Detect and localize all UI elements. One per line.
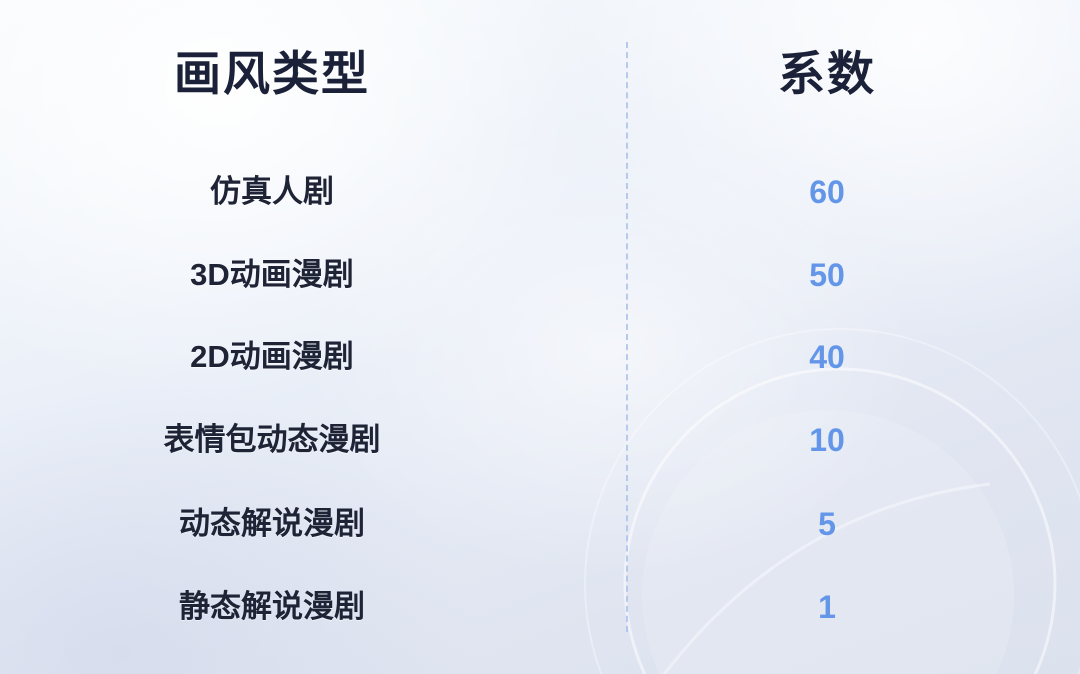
row-value: 60 [627, 168, 1027, 216]
row-value: 5 [627, 500, 1027, 548]
table-row: 静态解说漫剧 1 [0, 583, 1080, 631]
table-row: 表情包动态漫剧 10 [0, 416, 1080, 464]
row-value: 40 [627, 333, 1027, 381]
table-row: 2D动画漫剧 40 [0, 333, 1080, 381]
row-label: 动态解说漫剧 [72, 500, 472, 548]
row-label: 仿真人剧 [72, 168, 472, 216]
coefficient-table: 画风类型 系数 仿真人剧 60 3D动画漫剧 50 2D动画漫剧 40 表情包动… [0, 0, 1080, 674]
row-label: 2D动画漫剧 [72, 333, 472, 381]
header-coefficient: 系数 [627, 44, 1027, 104]
header-style-type: 画风类型 [72, 44, 472, 104]
table-row: 动态解说漫剧 5 [0, 500, 1080, 548]
row-label: 表情包动态漫剧 [72, 416, 472, 464]
table-row: 仿真人剧 60 [0, 168, 1080, 216]
row-label: 3D动画漫剧 [72, 251, 472, 299]
row-value: 10 [627, 416, 1027, 464]
row-value: 50 [627, 251, 1027, 299]
row-label: 静态解说漫剧 [72, 583, 472, 631]
table-header-row: 画风类型 系数 [0, 44, 1080, 104]
table-row: 3D动画漫剧 50 [0, 251, 1080, 299]
slide-canvas: 画风类型 系数 仿真人剧 60 3D动画漫剧 50 2D动画漫剧 40 表情包动… [0, 0, 1080, 674]
row-value: 1 [627, 583, 1027, 631]
